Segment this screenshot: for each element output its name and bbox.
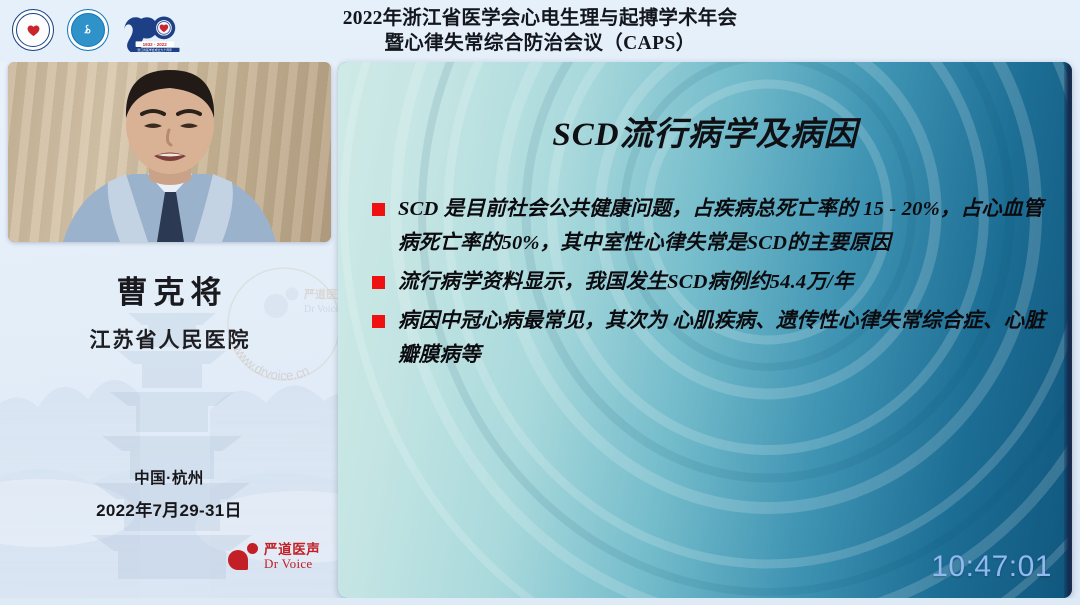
bullet-text: 流行病学资料显示，我国发生SCD病例约54.4万/年 [398,265,854,299]
brand-name-en: Dr Voice [264,557,320,571]
conference-title-line2: 暨心律失常综合防治会议（CAPS） [232,31,848,56]
drvoice-brand-logo: 严道医声 Dr Voice [228,543,320,571]
webcast-stage: 1932 - 2022 浙江省医学会成立九十周年 2022年浙江省医学会心电生理… [0,0,1080,605]
svg-text:1932 - 2022: 1932 - 2022 [143,42,168,47]
square-bullet-icon [372,276,385,289]
list-item: 病因中冠心病最常见，其次为 心肌疾病、遗传性心律失常综合症、心脏瓣膜病等 [372,304,1048,372]
brand-name-cn: 严道医声 [264,543,320,557]
zhejiang-medical-association-logo [10,7,56,53]
society-glyph-icon [81,23,95,37]
list-item: 流行病学资料显示，我国发生SCD病例约54.4万/年 [372,265,1048,299]
square-bullet-icon [372,315,385,328]
speaker-name: 曹克将 [0,267,338,312]
logo-group: 1932 - 2022 浙江省医学会成立九十周年 [10,6,188,54]
stream-timestamp: 10:47:01 [931,550,1052,584]
slide-bullet-list: SCD 是目前社会公共健康问题，占疾病总死亡率的 15 - 20%，占心血管病死… [372,192,1048,377]
speaker-panel: 曹克将 江苏省人民医院 www.drvoice.cn 严道医声 Dr Voice… [0,62,338,605]
svg-text:浙江省医学会成立九十周年: 浙江省医学会成立九十周年 [137,47,172,52]
bullet-text: SCD 是目前社会公共健康问题，占疾病总死亡率的 15 - 20%，占心血管病死… [398,192,1048,260]
list-item: SCD 是目前社会公共健康问题，占疾病总死亡率的 15 - 20%，占心血管病死… [372,192,1048,260]
conference-city: 中国·杭州 [0,466,338,488]
speaker-portrait [8,62,331,242]
cardiology-society-logo [65,7,111,53]
speaker-organization: 江苏省人民医院 [0,324,338,354]
speech-bubble-icon [228,543,258,571]
slide-title: SCD流行病学及病因 [338,107,1072,155]
bullet-text: 病因中冠心病最常见，其次为 心肌疾病、遗传性心律失常综合症、心脏瓣膜病等 [398,304,1048,372]
page-bottom-strip [0,598,1080,605]
conference-header: 1932 - 2022 浙江省医学会成立九十周年 2022年浙江省医学会心电生理… [0,0,1080,62]
conference-title: 2022年浙江省医学会心电生理与起搏学术年会 暨心律失常综合防治会议（CAPS） [232,6,848,56]
conference-date: 2022年7月29-31日 [0,496,338,521]
conference-title-line1: 2022年浙江省医学会心电生理与起搏学术年会 [232,6,848,31]
presentation-slide[interactable]: SCD流行病学及病因 SCD 是目前社会公共健康问题，占疾病总死亡率的 15 -… [338,62,1072,598]
square-bullet-icon [372,203,385,216]
speaker-video-feed[interactable] [8,62,331,242]
ninetieth-anniversary-logo: 1932 - 2022 浙江省医学会成立九十周年 [120,6,188,54]
heart-icon [26,23,41,38]
